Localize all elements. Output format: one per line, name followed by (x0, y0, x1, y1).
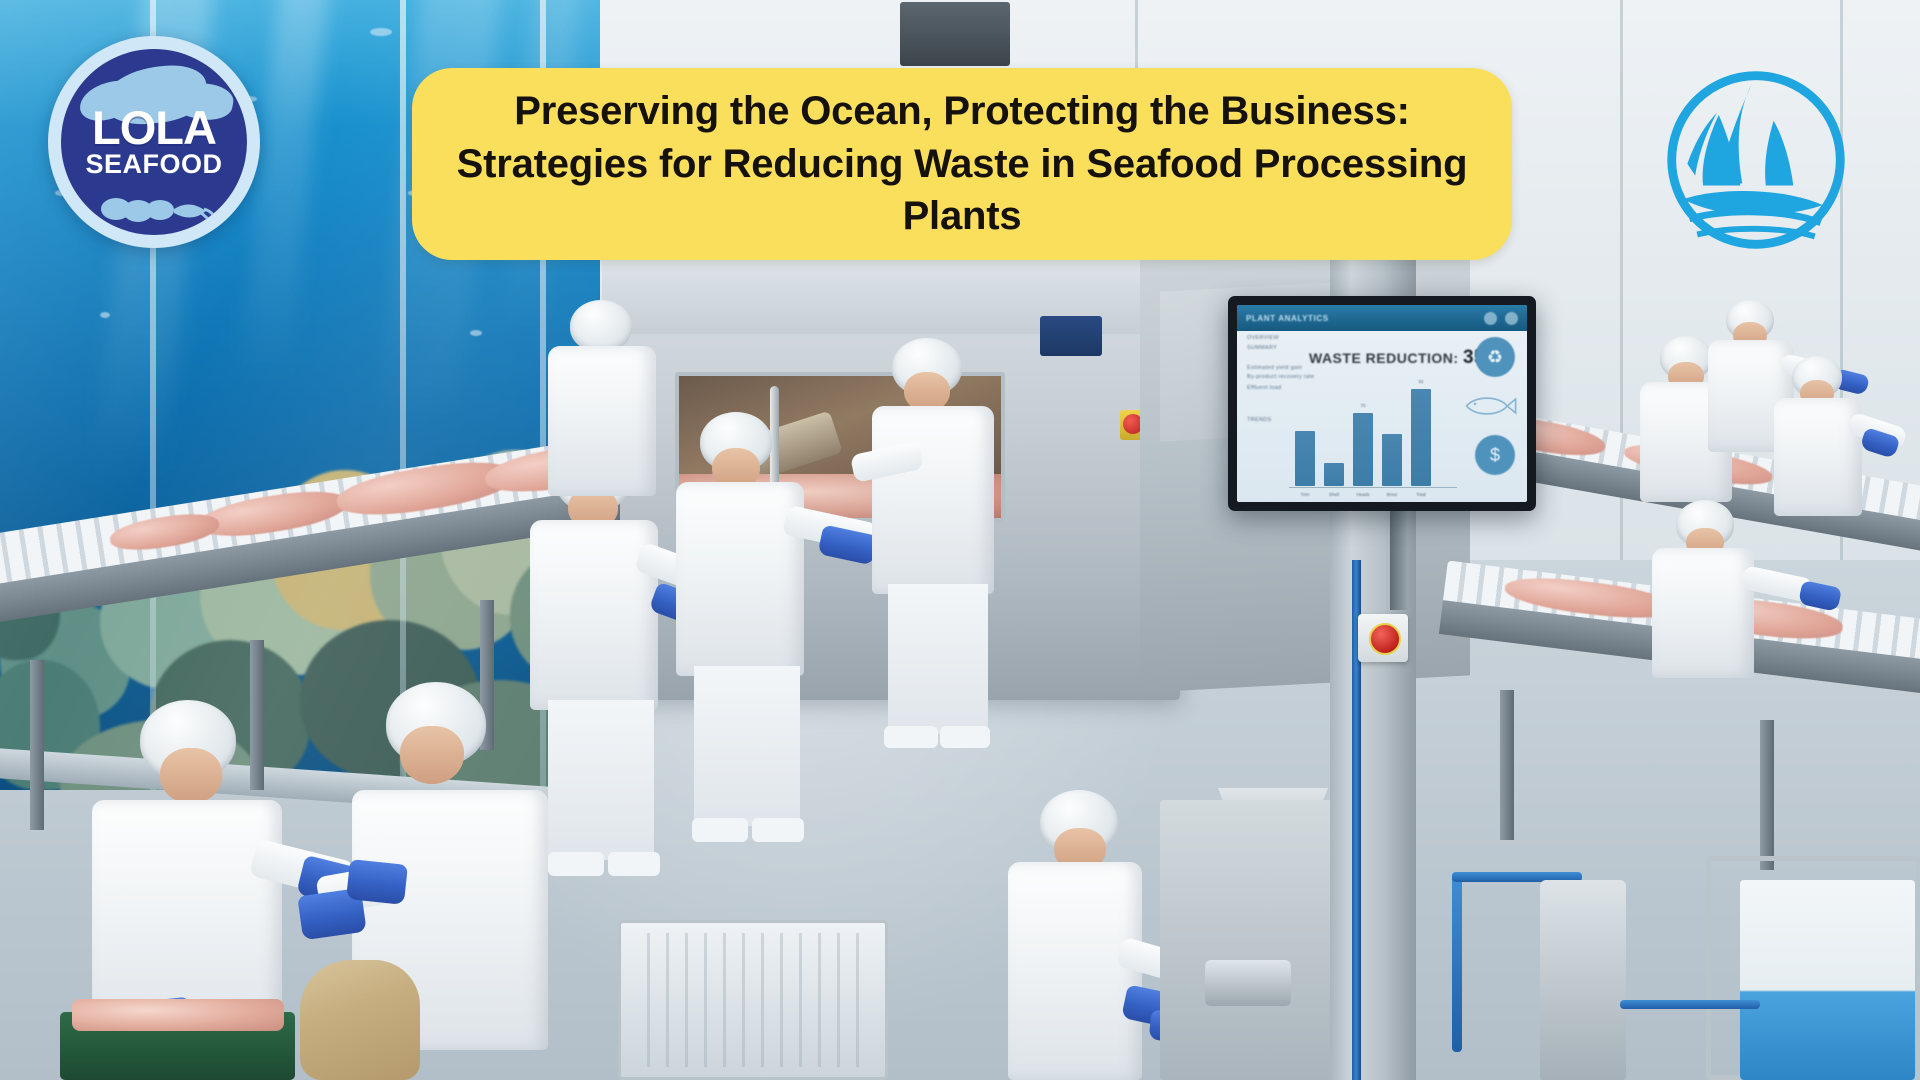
title-banner: Preserving the Ocean, Protecting the Bus… (412, 68, 1512, 260)
grinder-outlet-nozzle (1205, 960, 1291, 1006)
recycle-icon: ♻ (1475, 337, 1515, 377)
process-water-tank (1740, 880, 1915, 1080)
logo-line-2: SEAFOOD (85, 150, 222, 178)
conveyor-leg (30, 660, 44, 830)
dashboard-settings-icon[interactable] (1505, 312, 1518, 325)
dashboard-note-yield: Estimated yield gain (1247, 365, 1302, 371)
dashboard-title: PLANT ANALYTICS (1246, 314, 1329, 323)
dashboard-body: OVERVIEW SUMMARY Estimated yield gain By… (1237, 331, 1527, 502)
chart-bar-label: Heads (1356, 492, 1369, 497)
savings-icon: $ (1475, 435, 1515, 475)
machine-motor (900, 2, 1010, 66)
chart-bar: Brine (1382, 434, 1402, 487)
dashboard-note-recovery: By-product recovery rate (1247, 374, 1314, 380)
logo-line-1: LOLA (92, 105, 216, 150)
chart-bar-label: Total (1416, 492, 1426, 497)
monitor-screen: PLANT ANALYTICS OVERVIEW SUMMARY Estimat… (1237, 305, 1527, 502)
burlap-sack (300, 960, 420, 1080)
sailboat-wave-logo[interactable] (1658, 62, 1854, 258)
transfer-pump (1540, 880, 1626, 1080)
scene-root: PLANT ANALYTICS OVERVIEW SUMMARY Estimat… (0, 0, 1920, 1080)
dashboard-note-trends: TRENDS (1247, 417, 1271, 423)
machine-control-panel[interactable] (1040, 316, 1102, 356)
fish-icon (1461, 393, 1517, 419)
chart-bar-value: 70 (1360, 403, 1365, 408)
chart-bar: 70 Heads (1353, 413, 1373, 487)
process-pipe (1620, 1000, 1760, 1009)
chart-bar: Trim (1295, 431, 1315, 486)
monitor-mount-arm (1390, 500, 1408, 610)
chart-bar-label: Trim (1301, 492, 1310, 497)
chart-bar: Shell (1324, 463, 1344, 486)
shrimp-icon (94, 193, 214, 227)
page-title: Preserving the Ocean, Protecting the Bus… (412, 85, 1512, 243)
chart-bar-label: Brine (1387, 492, 1398, 497)
dashboard-header-bar: PLANT ANALYTICS (1237, 305, 1527, 331)
dashboard-note-summary: SUMMARY (1247, 345, 1277, 351)
white-stacking-crate (618, 920, 888, 1080)
conveyor-leg (250, 640, 264, 790)
kpi-waste-reduction: WASTE REDUCTION: 35% (1309, 347, 1502, 369)
chart-bar-value: 92 (1418, 379, 1423, 384)
green-waste-crate (60, 1012, 295, 1080)
chart-bar: 92 Total (1411, 389, 1431, 486)
shrimp-trimmings (72, 999, 284, 1031)
conveyor-leg (1500, 690, 1514, 840)
lola-seafood-logo[interactable]: LOLA SEAFOOD (48, 36, 260, 248)
conveyor-leg (1760, 720, 1774, 870)
chart-baseline (1289, 487, 1457, 488)
dashboard-refresh-icon[interactable] (1484, 312, 1497, 325)
emergency-stop-button[interactable] (1358, 614, 1408, 662)
analytics-monitor[interactable]: PLANT ANALYTICS OVERVIEW SUMMARY Estimat… (1228, 296, 1536, 511)
kpi-label: WASTE REDUCTION: (1309, 350, 1459, 366)
glass-mullion (400, 0, 406, 790)
waste-reduction-bar-chart: Trim Shell 70 Heads Brine (1295, 381, 1445, 486)
dashboard-note-overview: OVERVIEW (1247, 335, 1279, 341)
chart-bar-label: Shell (1329, 492, 1339, 497)
dashboard-note-effluent: Effluent load (1247, 385, 1281, 391)
process-pipe (1452, 872, 1462, 1052)
